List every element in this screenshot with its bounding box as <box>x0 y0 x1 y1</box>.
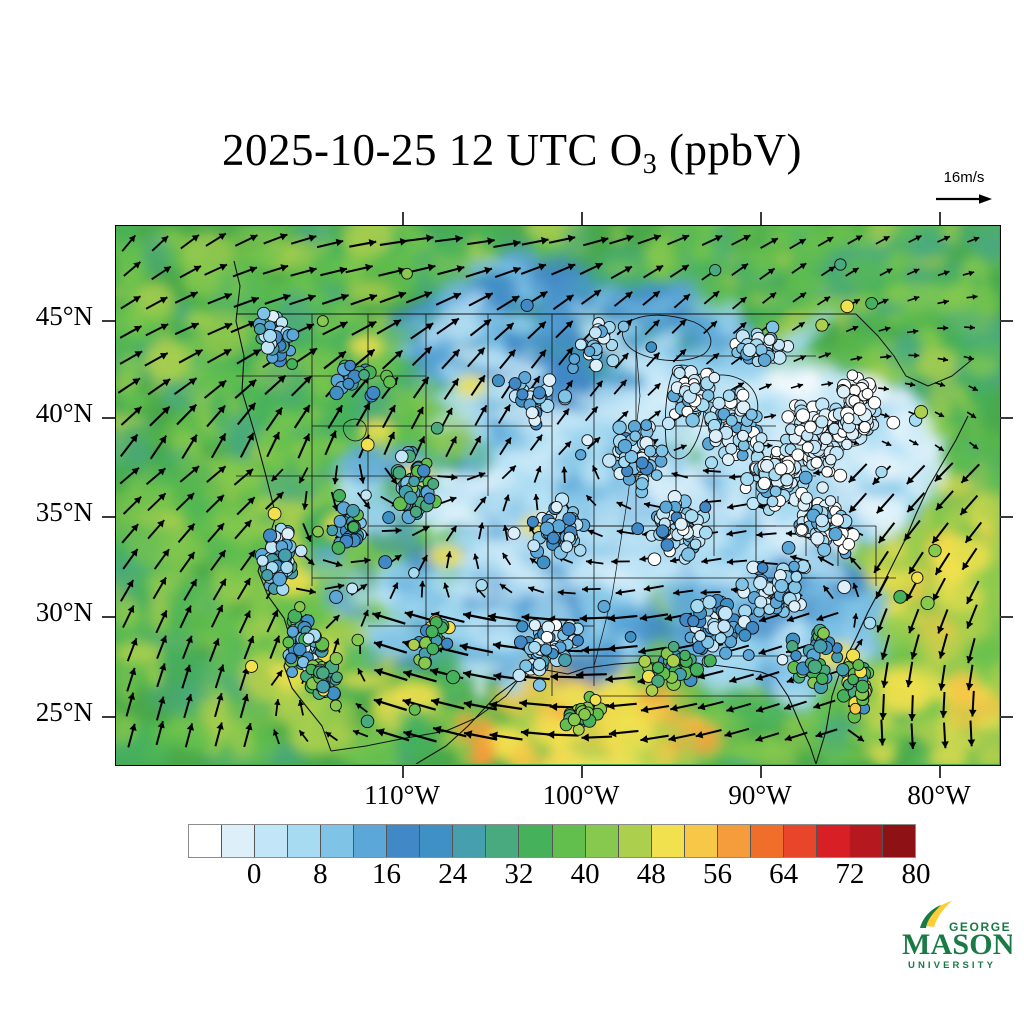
station-marker[interactable] <box>287 359 298 370</box>
lon-tick-bottom-110 <box>402 765 404 778</box>
field-cell <box>436 229 472 262</box>
station-marker[interactable] <box>509 378 521 390</box>
station-marker[interactable] <box>636 457 648 469</box>
station-marker[interactable] <box>334 515 346 527</box>
station-marker[interactable] <box>361 438 374 451</box>
lat-tick-right-30 <box>1000 616 1013 618</box>
lat-label-35: 35°N <box>0 497 93 528</box>
station-marker[interactable] <box>801 492 813 504</box>
station-marker[interactable] <box>409 704 420 715</box>
station-marker[interactable] <box>929 544 941 556</box>
station-marker[interactable] <box>513 669 525 681</box>
station-marker[interactable] <box>767 496 778 507</box>
station-marker[interactable] <box>843 538 855 550</box>
station-marker[interactable] <box>343 378 354 389</box>
station-marker[interactable] <box>755 596 767 608</box>
station-marker[interactable] <box>837 664 849 676</box>
station-marker[interactable] <box>829 528 842 541</box>
station-marker[interactable] <box>526 407 538 419</box>
station-marker[interactable] <box>646 685 658 697</box>
station-marker[interactable] <box>837 386 850 399</box>
station-marker[interactable] <box>791 651 801 661</box>
station-marker[interactable] <box>825 496 835 506</box>
station-marker[interactable] <box>710 264 721 275</box>
field-cell <box>412 398 444 412</box>
colorbar-band-7 <box>420 825 453 857</box>
station-marker[interactable] <box>831 514 843 526</box>
station-marker[interactable] <box>722 454 734 466</box>
lat-label-45: 45°N <box>0 301 93 332</box>
lat-tick-right-35 <box>1000 516 1013 518</box>
field-cell <box>876 389 911 401</box>
field-cell <box>228 537 246 581</box>
station-marker[interactable] <box>295 545 307 557</box>
station-marker[interactable] <box>384 376 396 388</box>
station-marker[interactable] <box>754 576 767 589</box>
station-marker[interactable] <box>737 450 748 461</box>
station-marker[interactable] <box>330 652 342 664</box>
station-marker[interactable] <box>704 655 716 667</box>
station-marker[interactable] <box>690 663 703 676</box>
station-marker[interactable] <box>853 403 866 416</box>
station-marker[interactable] <box>818 543 831 556</box>
station-marker[interactable] <box>625 632 636 643</box>
station-marker[interactable] <box>630 431 640 441</box>
colorbar-band-21 <box>883 825 915 857</box>
station-marker[interactable] <box>332 672 343 683</box>
station-marker[interactable] <box>551 501 562 512</box>
station-marker[interactable] <box>632 523 644 535</box>
colorbar-tick-8: 8 <box>313 858 328 891</box>
station-marker[interactable] <box>521 299 533 311</box>
station-marker[interactable] <box>847 370 858 381</box>
station-marker[interactable] <box>682 548 695 561</box>
station-marker[interactable] <box>246 660 258 672</box>
field-warm-pocket-8 <box>880 680 932 712</box>
station-marker[interactable] <box>330 386 343 399</box>
station-marker[interactable] <box>409 568 420 579</box>
station-marker[interactable] <box>618 321 629 332</box>
station-marker[interactable] <box>540 644 551 655</box>
station-marker[interactable] <box>317 667 329 679</box>
station-marker[interactable] <box>442 638 453 649</box>
colorbar-band-12 <box>586 825 619 857</box>
field-cell <box>261 734 285 746</box>
field-cell <box>135 720 155 748</box>
field-cell <box>412 251 433 264</box>
colorbar-tick-16: 16 <box>372 858 401 891</box>
station-marker[interactable] <box>713 397 725 409</box>
station-marker[interactable] <box>517 621 528 632</box>
field-cell <box>136 568 148 617</box>
station-marker[interactable] <box>281 561 293 573</box>
station-marker[interactable] <box>641 420 652 431</box>
station-marker[interactable] <box>709 372 720 383</box>
station-marker[interactable] <box>262 570 273 581</box>
colorbar-band-2 <box>255 825 288 857</box>
station-marker[interactable] <box>261 341 274 354</box>
station-marker[interactable] <box>777 654 788 665</box>
station-marker[interactable] <box>817 482 828 493</box>
station-marker[interactable] <box>517 389 528 400</box>
station-marker[interactable] <box>770 486 781 497</box>
station-marker[interactable] <box>915 405 928 418</box>
station-marker[interactable] <box>736 578 748 590</box>
station-marker[interactable] <box>561 541 573 553</box>
station-marker[interactable] <box>773 351 786 364</box>
station-marker[interactable] <box>603 454 616 467</box>
station-marker[interactable] <box>816 319 828 331</box>
station-marker[interactable] <box>409 476 420 487</box>
station-marker[interactable] <box>613 421 626 434</box>
station-marker[interactable] <box>822 467 833 478</box>
colorbar-band-4 <box>321 825 354 857</box>
station-marker[interactable] <box>533 658 545 670</box>
station-marker[interactable] <box>653 662 664 673</box>
station-marker[interactable] <box>562 622 575 635</box>
station-marker[interactable] <box>332 542 345 555</box>
lat-label-25: 25°N <box>0 697 93 728</box>
lat-tick-left-45 <box>102 320 115 322</box>
station-marker[interactable] <box>428 478 439 489</box>
station-marker[interactable] <box>674 367 685 378</box>
station-marker[interactable] <box>738 430 749 441</box>
wind-scale-label: 16m/s <box>916 170 1012 185</box>
lon-label-90: 90°W <box>670 780 850 811</box>
station-marker[interactable] <box>757 563 768 574</box>
station-marker[interactable] <box>317 680 330 693</box>
colorbar-band-1 <box>222 825 255 857</box>
field-warm-pocket-14 <box>350 336 382 356</box>
station-marker[interactable] <box>426 626 438 638</box>
station-marker[interactable] <box>548 532 560 544</box>
station-marker[interactable] <box>753 442 764 453</box>
field-cell <box>128 528 184 566</box>
station-marker[interactable] <box>543 374 556 387</box>
station-marker[interactable] <box>541 631 553 643</box>
station-marker[interactable] <box>775 579 788 592</box>
station-marker[interactable] <box>796 524 807 535</box>
station-marker[interactable] <box>286 653 297 664</box>
station-marker[interactable] <box>775 463 787 475</box>
gmu-university-text: UNIVERSITY <box>908 960 996 971</box>
station-marker[interactable] <box>582 435 593 446</box>
station-marker[interactable] <box>264 529 277 542</box>
station-marker[interactable] <box>644 446 655 457</box>
field-cell <box>884 539 905 559</box>
station-marker[interactable] <box>743 650 754 661</box>
station-marker[interactable] <box>834 469 847 482</box>
station-marker[interactable] <box>868 397 880 409</box>
station-marker[interactable] <box>686 414 699 427</box>
station-marker[interactable] <box>758 354 771 367</box>
station-marker[interactable] <box>796 409 810 423</box>
station-marker[interactable] <box>811 532 824 545</box>
station-marker[interactable] <box>719 606 733 620</box>
station-marker[interactable] <box>607 355 619 367</box>
station-marker[interactable] <box>689 383 700 394</box>
station-marker[interactable] <box>348 522 359 533</box>
station-marker[interactable] <box>816 514 829 527</box>
station-marker[interactable] <box>656 525 669 538</box>
station-marker[interactable] <box>791 571 802 582</box>
field-cell <box>129 309 178 323</box>
station-marker[interactable] <box>258 307 270 319</box>
station-marker[interactable] <box>529 641 541 653</box>
field-cell <box>154 480 206 493</box>
station-marker[interactable] <box>572 635 583 646</box>
station-marker[interactable] <box>703 596 716 609</box>
lon-tick-top-80 <box>939 212 941 225</box>
station-marker[interactable] <box>569 354 580 365</box>
station-marker[interactable] <box>639 656 651 668</box>
station-marker[interactable] <box>820 433 832 445</box>
station-marker[interactable] <box>668 641 679 652</box>
station-marker[interactable] <box>781 474 793 486</box>
station-marker[interactable] <box>816 416 828 428</box>
station-marker[interactable] <box>835 259 846 270</box>
station-marker[interactable] <box>766 321 778 333</box>
station-marker[interactable] <box>287 329 299 341</box>
wind-scale-key: 16m/s <box>916 170 1012 206</box>
station-marker[interactable] <box>838 581 851 594</box>
station-marker[interactable] <box>887 416 900 429</box>
field-cell <box>455 713 475 743</box>
colorbar-tick-48: 48 <box>637 858 666 891</box>
station-marker[interactable] <box>866 297 878 309</box>
field-cell <box>351 589 404 603</box>
station-marker[interactable] <box>576 450 586 460</box>
station-marker[interactable] <box>688 616 699 627</box>
field-cell <box>161 719 199 744</box>
station-marker[interactable] <box>492 375 504 387</box>
station-marker[interactable] <box>685 510 698 523</box>
station-marker[interactable] <box>805 421 817 433</box>
station-marker[interactable] <box>533 679 545 691</box>
map-plot-area[interactable] <box>115 225 1001 766</box>
station-marker[interactable] <box>476 579 487 590</box>
station-marker[interactable] <box>814 640 827 653</box>
station-marker[interactable] <box>287 667 298 678</box>
station-marker[interactable] <box>912 572 923 583</box>
station-marker[interactable] <box>709 430 722 443</box>
station-marker[interactable] <box>726 415 737 426</box>
station-marker[interactable] <box>598 601 610 613</box>
station-marker[interactable] <box>283 637 294 648</box>
station-marker[interactable] <box>842 439 852 449</box>
station-marker[interactable] <box>410 506 421 517</box>
station-marker[interactable] <box>563 512 576 525</box>
station-marker[interactable] <box>590 359 602 371</box>
station-marker[interactable] <box>921 596 934 609</box>
station-marker[interactable] <box>529 620 540 631</box>
station-marker[interactable] <box>690 539 701 550</box>
station-marker[interactable] <box>811 457 822 468</box>
station-marker[interactable] <box>419 657 431 669</box>
station-marker[interactable] <box>367 386 380 399</box>
station-marker[interactable] <box>508 527 520 539</box>
station-marker[interactable] <box>843 413 854 424</box>
colorbar-tick-40: 40 <box>571 858 600 891</box>
station-marker[interactable] <box>295 602 305 612</box>
station-marker[interactable] <box>404 491 417 504</box>
station-marker[interactable] <box>361 490 371 500</box>
field-cell <box>174 257 234 270</box>
station-marker[interactable] <box>706 457 718 469</box>
station-marker[interactable] <box>894 591 907 604</box>
station-marker[interactable] <box>427 643 439 655</box>
station-marker[interactable] <box>352 634 364 646</box>
station-marker[interactable] <box>720 647 732 659</box>
station-marker[interactable] <box>741 473 754 486</box>
station-marker[interactable] <box>558 390 571 403</box>
station-marker[interactable] <box>802 442 813 453</box>
station-marker[interactable] <box>718 620 730 632</box>
station-marker[interactable] <box>383 512 395 524</box>
station-marker[interactable] <box>447 671 460 684</box>
station-marker[interactable] <box>431 422 443 434</box>
station-marker[interactable] <box>636 478 648 490</box>
station-marker[interactable] <box>590 694 601 705</box>
station-marker[interactable] <box>656 445 668 457</box>
station-marker[interactable] <box>282 528 294 540</box>
station-marker[interactable] <box>808 660 822 674</box>
station-marker[interactable] <box>347 504 360 517</box>
station-marker[interactable] <box>826 454 837 465</box>
colorbar-tick-24: 24 <box>438 858 467 891</box>
station-marker[interactable] <box>675 518 687 530</box>
ozone-map-svg <box>116 226 999 764</box>
lon-tick-top-90 <box>760 212 762 225</box>
station-marker[interactable] <box>303 633 314 644</box>
field-cell <box>399 367 417 395</box>
lon-tick-bottom-80 <box>939 765 941 778</box>
colorbar-band-17 <box>751 825 784 857</box>
station-marker[interactable] <box>327 525 338 536</box>
field-cell <box>467 607 517 646</box>
station-marker[interactable] <box>254 324 265 335</box>
station-marker[interactable] <box>758 477 770 489</box>
wind-scale-arrow-icon <box>916 192 1012 206</box>
station-marker[interactable] <box>264 329 277 342</box>
station-marker[interactable] <box>646 342 657 353</box>
station-marker[interactable] <box>667 655 680 668</box>
field-cell <box>802 745 866 762</box>
station-marker[interactable] <box>268 507 281 520</box>
station-marker[interactable] <box>317 316 328 327</box>
station-marker[interactable] <box>313 526 324 537</box>
station-marker[interactable] <box>575 339 586 350</box>
station-marker[interactable] <box>746 409 757 420</box>
station-marker[interactable] <box>723 390 735 402</box>
station-marker[interactable] <box>347 583 358 594</box>
colorbar-band-15 <box>685 825 718 857</box>
colorbar[interactable] <box>188 824 916 858</box>
station-marker[interactable] <box>330 591 343 604</box>
colorbar-band-11 <box>553 825 586 857</box>
station-marker[interactable] <box>660 501 672 513</box>
colorbar-band-8 <box>453 825 486 857</box>
station-marker[interactable] <box>257 555 268 566</box>
colorbar-tick-72: 72 <box>835 858 864 891</box>
colorbar-band-14 <box>652 825 685 857</box>
station-marker[interactable] <box>273 572 287 586</box>
station-marker[interactable] <box>533 387 545 399</box>
station-marker[interactable] <box>817 673 828 684</box>
station-marker[interactable] <box>743 343 756 356</box>
station-marker[interactable] <box>359 370 370 381</box>
station-marker[interactable] <box>789 561 799 571</box>
station-marker[interactable] <box>737 389 749 401</box>
station-marker[interactable] <box>792 449 804 461</box>
station-marker[interactable] <box>782 411 794 423</box>
field-cell <box>938 475 976 498</box>
colorbar-band-5 <box>354 825 387 857</box>
station-marker[interactable] <box>379 556 392 569</box>
station-marker[interactable] <box>700 526 713 539</box>
station-marker[interactable] <box>333 490 345 502</box>
station-marker[interactable] <box>799 471 812 484</box>
station-marker[interactable] <box>418 465 430 477</box>
station-marker[interactable] <box>330 700 341 711</box>
lat-tick-right-40 <box>1000 417 1013 419</box>
station-marker[interactable] <box>764 334 775 345</box>
station-marker[interactable] <box>700 502 711 513</box>
station-marker[interactable] <box>876 466 887 477</box>
station-marker[interactable] <box>841 300 854 313</box>
station-marker[interactable] <box>424 493 435 504</box>
station-marker[interactable] <box>396 450 409 463</box>
station-marker[interactable] <box>648 553 661 566</box>
station-marker[interactable] <box>590 327 602 339</box>
field-cell <box>648 720 688 743</box>
lat-tick-left-40 <box>102 417 115 419</box>
station-marker[interactable] <box>618 440 631 453</box>
station-marker[interactable] <box>739 630 751 642</box>
station-marker[interactable] <box>782 541 795 554</box>
station-marker[interactable] <box>528 540 540 552</box>
station-marker[interactable] <box>818 628 830 640</box>
field-cell <box>228 462 241 475</box>
station-marker[interactable] <box>789 601 800 612</box>
station-marker[interactable] <box>661 539 673 551</box>
lon-tick-top-110 <box>402 212 404 225</box>
station-marker[interactable] <box>680 650 690 660</box>
field-cell <box>669 688 709 718</box>
colorbar-band-3 <box>288 825 321 857</box>
station-marker[interactable] <box>651 470 662 481</box>
station-marker[interactable] <box>579 709 591 721</box>
station-marker[interactable] <box>345 360 356 371</box>
station-marker[interactable] <box>726 443 737 454</box>
station-marker[interactable] <box>408 639 419 650</box>
station-marker[interactable] <box>584 346 594 356</box>
station-marker[interactable] <box>856 680 869 693</box>
station-marker[interactable] <box>527 516 538 527</box>
station-marker[interactable] <box>738 440 749 451</box>
station-marker[interactable] <box>864 617 876 629</box>
station-marker[interactable] <box>361 715 374 728</box>
station-marker[interactable] <box>559 654 572 667</box>
lon-tick-bottom-100 <box>581 765 583 778</box>
station-marker[interactable] <box>287 626 298 637</box>
station-marker[interactable] <box>853 660 864 671</box>
station-marker[interactable] <box>662 417 674 429</box>
station-marker[interactable] <box>402 268 413 279</box>
station-marker[interactable] <box>279 549 292 562</box>
station-marker[interactable] <box>691 600 704 613</box>
station-marker[interactable] <box>695 631 706 642</box>
